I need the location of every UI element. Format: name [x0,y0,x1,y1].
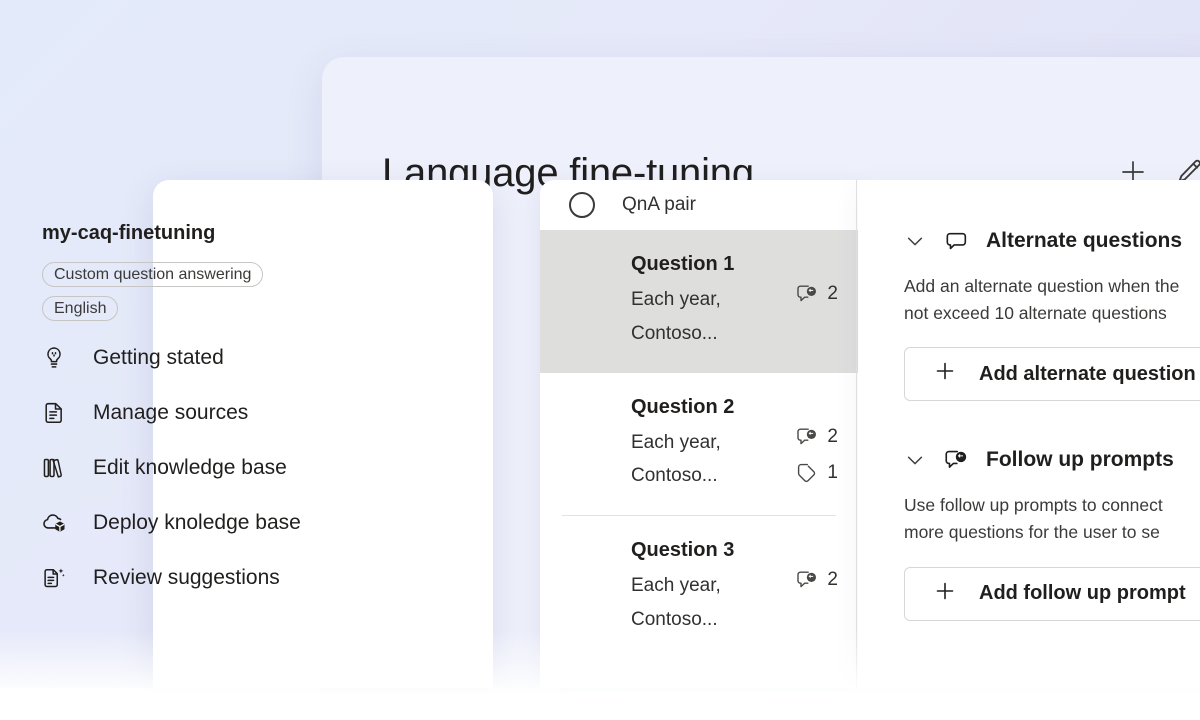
alternate-questions-header: Alternate questions [904,228,1200,254]
alternate-questions-section: Alternate questions Add an alternate que… [858,180,1200,401]
qna-row-title: Question 1 [631,254,836,274]
add-alternate-question-label: Add alternate question [979,363,1196,386]
follow-up-badge: 2 [795,282,838,306]
sidebar-item-label: Review suggestions [93,566,280,590]
table-row[interactable]: Question 1 Each year, Contoso... 2 [540,230,858,373]
follow-up-icon [795,568,819,592]
tag-icon [795,461,819,485]
chat-bubble-icon [943,228,969,254]
qna-list-panel: QnA pair Question 1 Each year, Contoso..… [540,180,858,688]
plus-icon [933,359,957,389]
follow-up-badge: 2 [795,425,838,449]
qna-row-badges: 2 1 [795,425,838,485]
plus-icon [933,579,957,609]
lightbulb-icon [40,345,68,371]
sidebar-item-label: Manage sources [93,401,248,425]
section-description: Use follow up prompts to connect more qu… [904,492,1200,546]
tag-language: English [42,296,118,321]
qna-detail-panel: Alternate questions Add an alternate que… [858,180,1200,688]
add-follow-up-prompt-label: Add follow up prompt [979,582,1186,605]
section-title: Follow up prompts [986,448,1174,472]
sidebar-item-manage-sources[interactable]: Manage sources [40,385,320,440]
tag-badge: 1 [795,461,838,485]
select-all-circle-icon[interactable] [569,192,595,218]
sidebar-nav: Getting stated Manage sources Edit knowl… [40,330,320,605]
section-description: Add an alternate question when the not e… [904,273,1200,327]
qna-row-title: Question 3 [631,540,836,560]
books-icon [40,455,68,481]
sidebar-item-deploy-knowledge-base[interactable]: Deploy knoledge base [40,495,320,550]
follow-up-badge: 2 [795,568,838,592]
sidebar-item-review-suggestions[interactable]: Review suggestions [40,550,320,605]
sidebar-item-label: Getting stated [93,346,224,370]
tag-label: Custom question answering [42,262,263,287]
tag-label: English [42,296,118,321]
badge-count: 2 [827,569,838,591]
chevron-down-icon[interactable] [904,449,926,471]
badge-count: 2 [827,283,838,305]
project-name: my-caq-finetuning [42,222,215,245]
section-title: Alternate questions [986,229,1182,253]
qna-row-title: Question 2 [631,397,836,417]
sidebar-item-edit-knowledge-base[interactable]: Edit knowledge base [40,440,320,495]
cloud-cube-icon [40,509,68,536]
document-icon [40,400,68,426]
sidebar-item-label: Edit knowledge base [93,456,287,480]
add-follow-up-prompt-button[interactable]: Add follow up prompt [904,567,1200,621]
follow-up-icon [795,425,819,449]
follow-up-icon [795,282,819,306]
qna-row-badges: 2 [795,568,838,592]
tag-custom-question-answering: Custom question answering [42,262,263,287]
document-sparkle-icon [40,565,68,591]
qna-row-badges: 2 [795,282,838,306]
sidebar-item-label: Deploy knoledge base [93,511,301,535]
qna-list-header-label: QnA pair [622,194,696,216]
badge-count: 1 [827,462,838,484]
follow-up-prompts-header: Follow up prompts [904,447,1200,473]
panel-divider [856,180,857,688]
qna-row-snippet: Each year, Contoso... [631,426,751,494]
add-alternate-question-button[interactable]: Add alternate question [904,347,1200,401]
follow-up-prompts-section: Follow up prompts Use follow up prompts … [858,401,1200,620]
sidebar-item-getting-started[interactable]: Getting stated [40,330,320,385]
qna-row-snippet: Each year, Contoso... [631,283,751,351]
chevron-down-icon[interactable] [904,230,926,252]
qna-list-header: QnA pair [540,180,858,230]
follow-up-icon [943,447,969,473]
badge-count: 2 [827,426,838,448]
table-row[interactable]: Question 2 Each year, Contoso... 2 1 [540,373,858,516]
qna-row-snippet: Each year, Contoso... [631,569,751,637]
table-row[interactable]: Question 3 Each year, Contoso... 2 [540,516,858,659]
